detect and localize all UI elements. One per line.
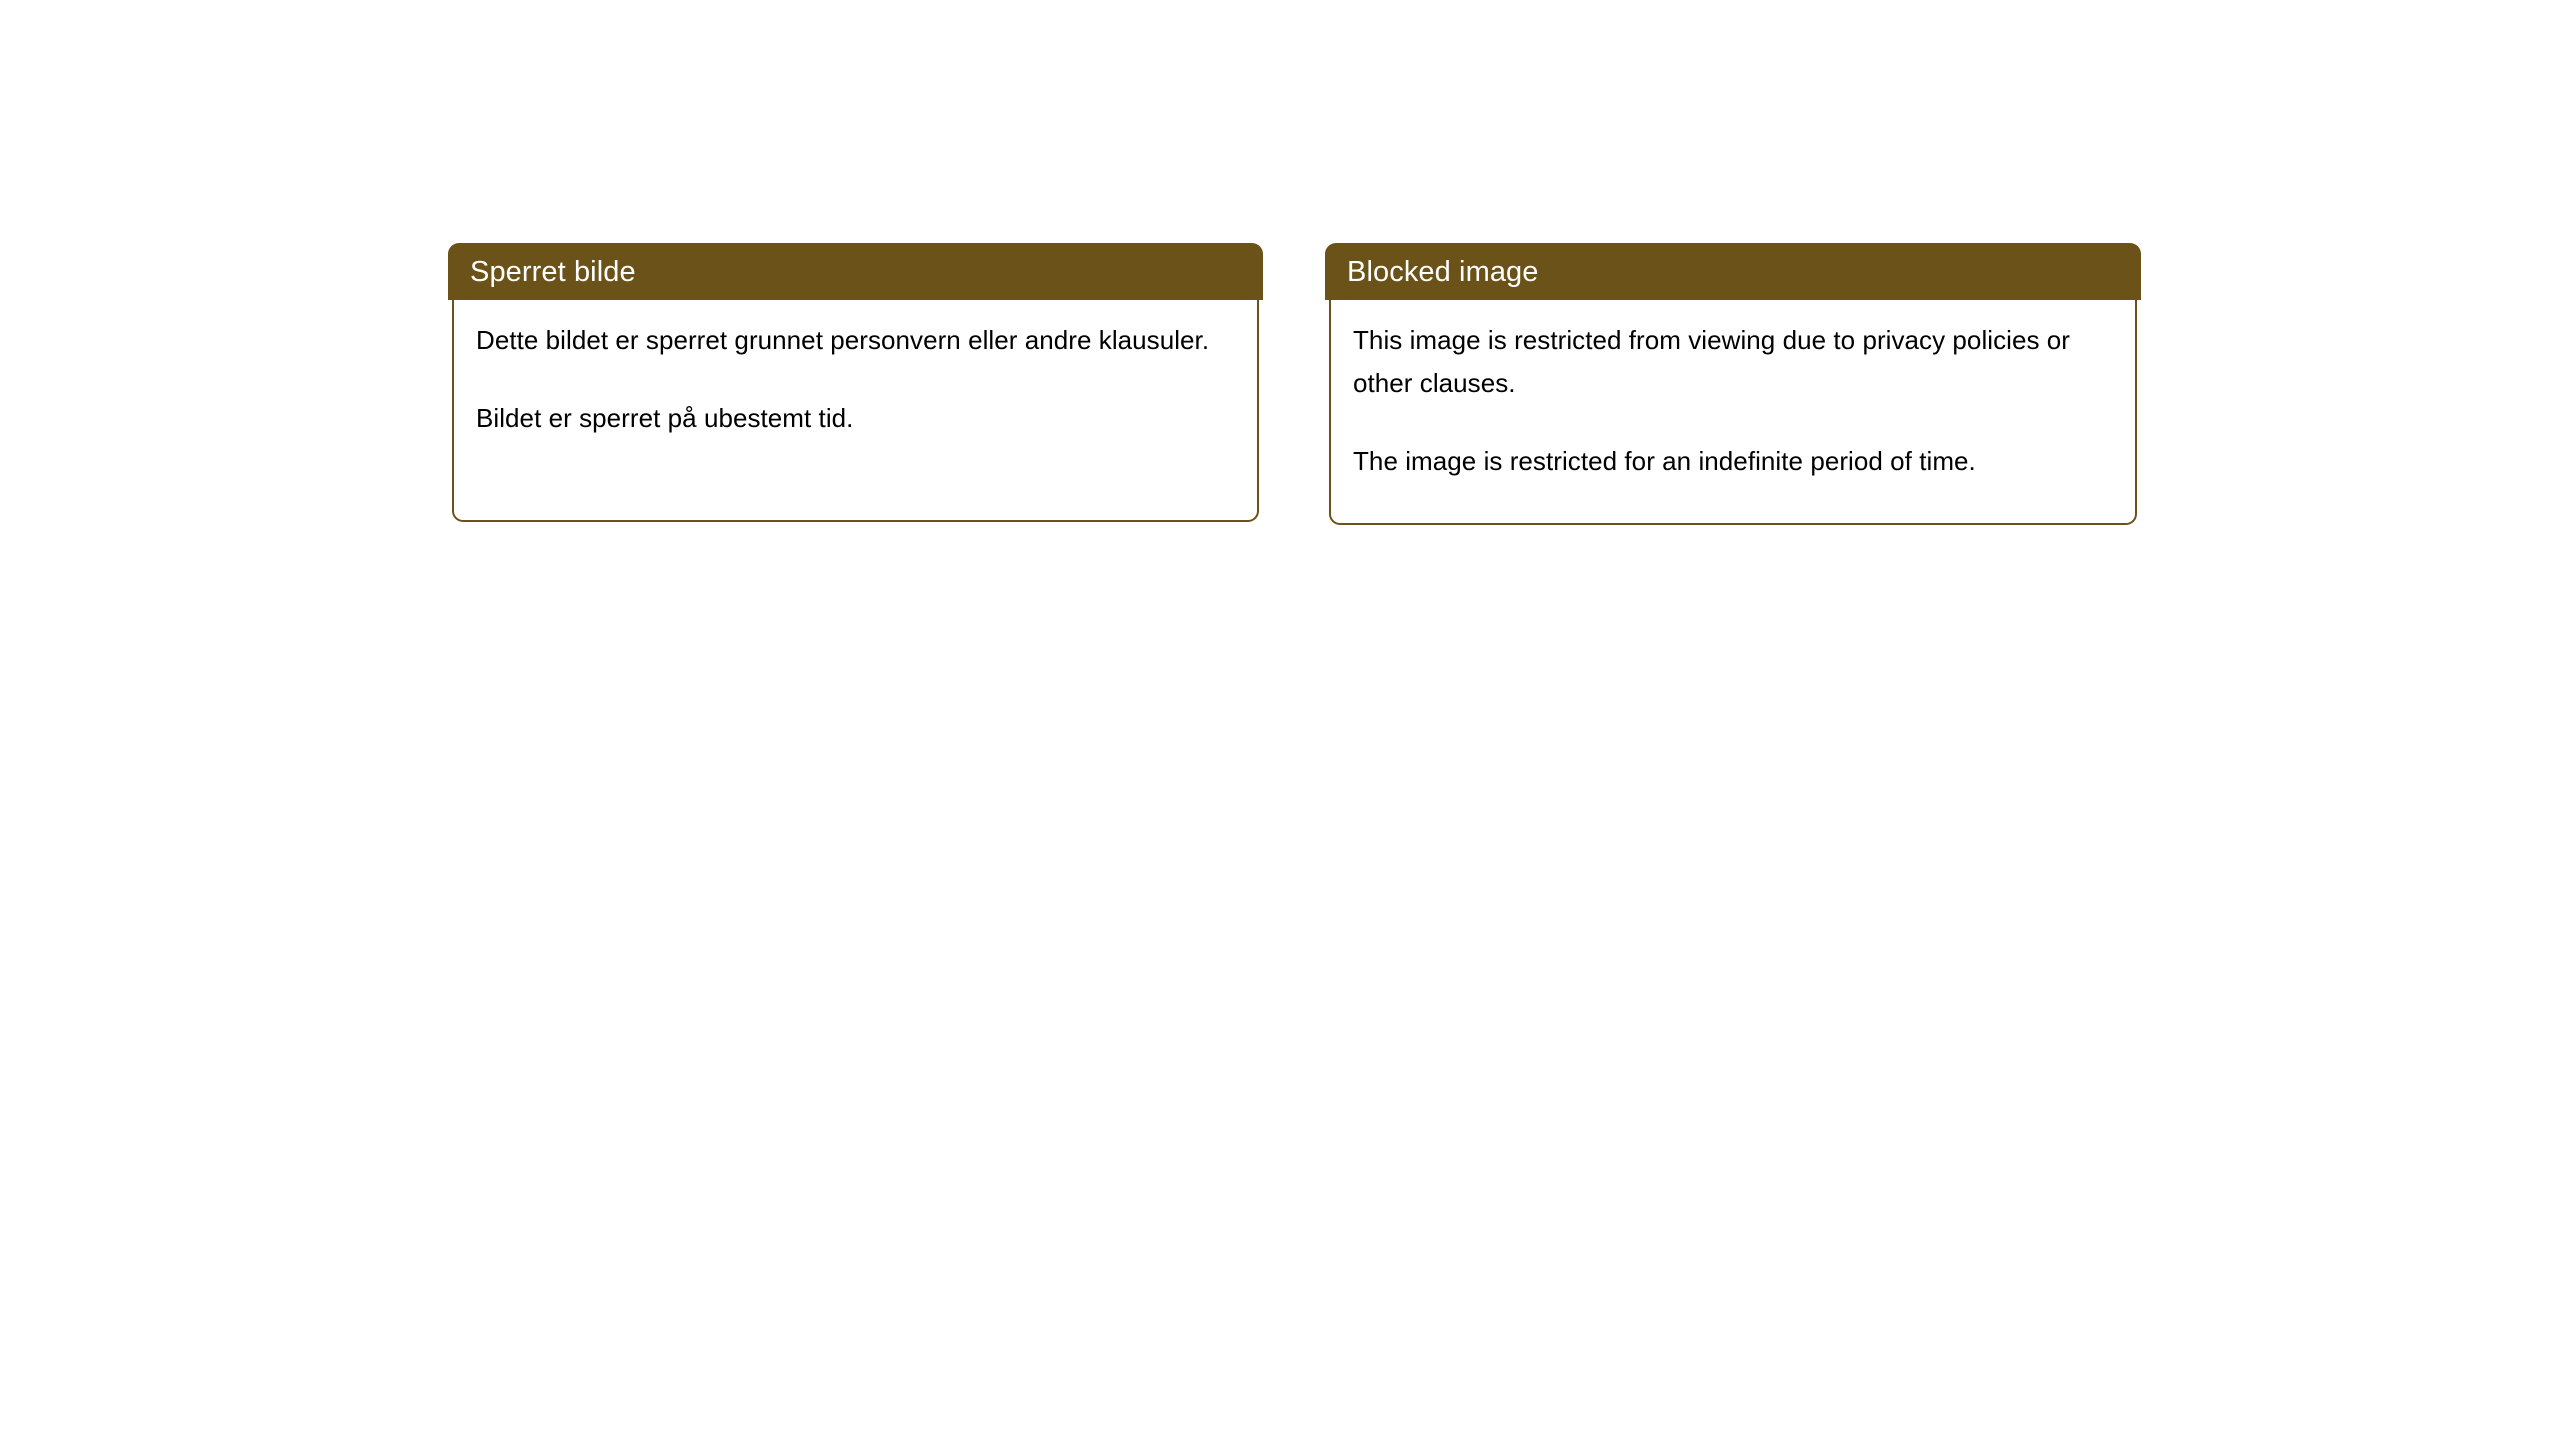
blocked-image-notice-en: Blocked image This image is restricted f… <box>1325 243 2141 525</box>
notice-title-en: Blocked image <box>1347 255 1539 289</box>
notice-card-group: Sperret bilde Dette bildet er sperret gr… <box>448 243 2141 525</box>
notice-paragraph: Bildet er sperret på ubestemt tid. <box>476 397 1235 440</box>
notice-paragraph: The image is restricted for an indefinit… <box>1353 440 2113 483</box>
notice-header-en: Blocked image <box>1325 243 2141 300</box>
notice-title-no: Sperret bilde <box>470 255 636 289</box>
notice-body-no: Dette bildet er sperret grunnet personve… <box>452 299 1259 522</box>
blocked-image-notice-no: Sperret bilde Dette bildet er sperret gr… <box>448 243 1263 522</box>
page-root: Sperret bilde Dette bildet er sperret gr… <box>0 0 2560 1440</box>
notice-header-no: Sperret bilde <box>448 243 1263 300</box>
notice-paragraph: Dette bildet er sperret grunnet personve… <box>476 319 1235 362</box>
notice-paragraph: This image is restricted from viewing du… <box>1353 319 2113 405</box>
notice-body-en: This image is restricted from viewing du… <box>1329 299 2137 525</box>
